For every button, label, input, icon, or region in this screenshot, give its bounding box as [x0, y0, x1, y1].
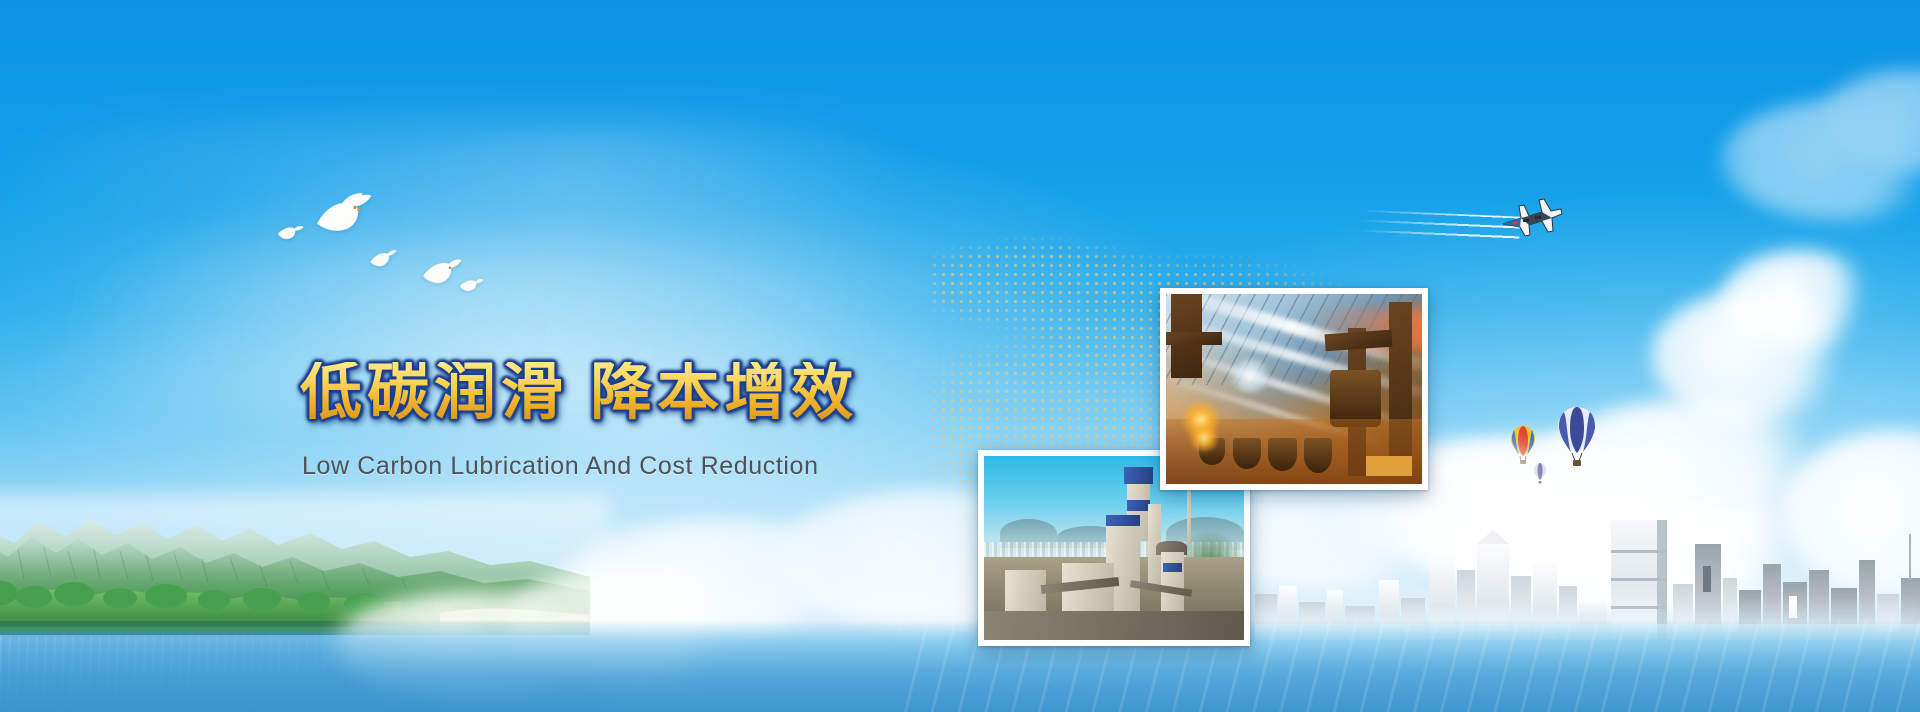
dove-icon [367, 247, 398, 271]
page-title: 低碳润滑 降本增效 [300, 362, 858, 424]
green-mountain-island [0, 505, 590, 635]
airplane-icon [1495, 190, 1565, 242]
hot-air-balloon-icon [1510, 425, 1536, 465]
hot-air-balloon-icon [1556, 405, 1598, 467]
hero-banner: 低碳润滑 降本增效 Low Carbon Lubrication And Cos… [0, 0, 1920, 712]
hot-air-balloon-icon [1533, 462, 1547, 484]
page-subtitle: Low Carbon Lubrication And Cost Reductio… [302, 452, 819, 481]
photo-steel-mill[interactable] [1160, 288, 1428, 490]
dove-icon [307, 186, 381, 245]
dove-icon [457, 274, 485, 296]
dove-icon [275, 221, 305, 246]
